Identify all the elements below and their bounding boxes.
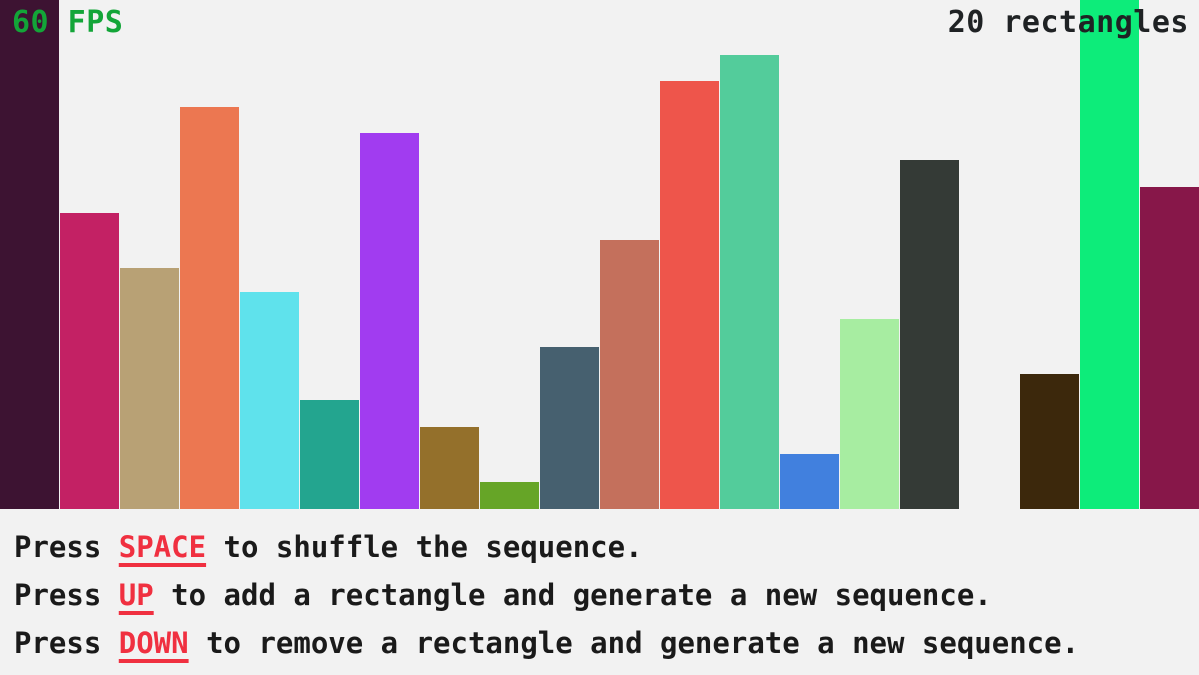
bar-light-green: [840, 319, 899, 509]
instruction-prefix: Press: [14, 530, 119, 564]
bar-terracotta: [600, 240, 659, 509]
key-up[interactable]: UP: [119, 578, 154, 612]
bar-red: [660, 81, 719, 509]
instruction-line-1: Press SPACE to shuffle the sequence.: [14, 523, 1199, 571]
rectangle-visualizer-app: 60 FPS 20 rectangles Press SPACE to shuf…: [0, 0, 1199, 675]
instruction-prefix: Press: [14, 578, 119, 612]
bar-blue: [780, 454, 839, 509]
key-down[interactable]: DOWN: [119, 626, 189, 660]
bar-bright-green: [1080, 0, 1139, 509]
instruction-line-2: Press UP to add a rectangle and generate…: [14, 571, 1199, 619]
bar-dark-brown: [1020, 374, 1079, 509]
bar-mint-green: [720, 55, 779, 509]
bar-cyan: [240, 292, 299, 509]
instruction-suffix: to add a rectangle and generate a new se…: [154, 578, 992, 612]
bar-tan: [120, 268, 179, 509]
instruction-prefix: Press: [14, 626, 119, 660]
bar-teal: [300, 400, 359, 509]
instruction-line-3: Press DOWN to remove a rectangle and gen…: [14, 619, 1199, 667]
fps-counter: 60 FPS: [12, 8, 123, 38]
bar-orange: [180, 107, 239, 509]
bar-charcoal: [900, 160, 959, 509]
bar-dark-maroon: [1140, 187, 1199, 509]
bar-crimson-pink: [60, 213, 119, 509]
instructions-panel: Press SPACE to shuffle the sequence.Pres…: [0, 509, 1199, 675]
bar-olive-green: [480, 482, 539, 509]
bar-steel-blue: [540, 347, 599, 509]
instruction-suffix: to remove a rectangle and generate a new…: [189, 626, 1079, 660]
bar-dark-plum: [0, 0, 59, 509]
bar-brown-ochre: [420, 427, 479, 509]
key-space[interactable]: SPACE: [119, 530, 206, 564]
bar-chart-canvas[interactable]: [0, 0, 1199, 509]
instruction-suffix: to shuffle the sequence.: [206, 530, 643, 564]
rectangle-count-label: 20 rectangles: [948, 8, 1189, 38]
bar-purple: [360, 133, 419, 509]
